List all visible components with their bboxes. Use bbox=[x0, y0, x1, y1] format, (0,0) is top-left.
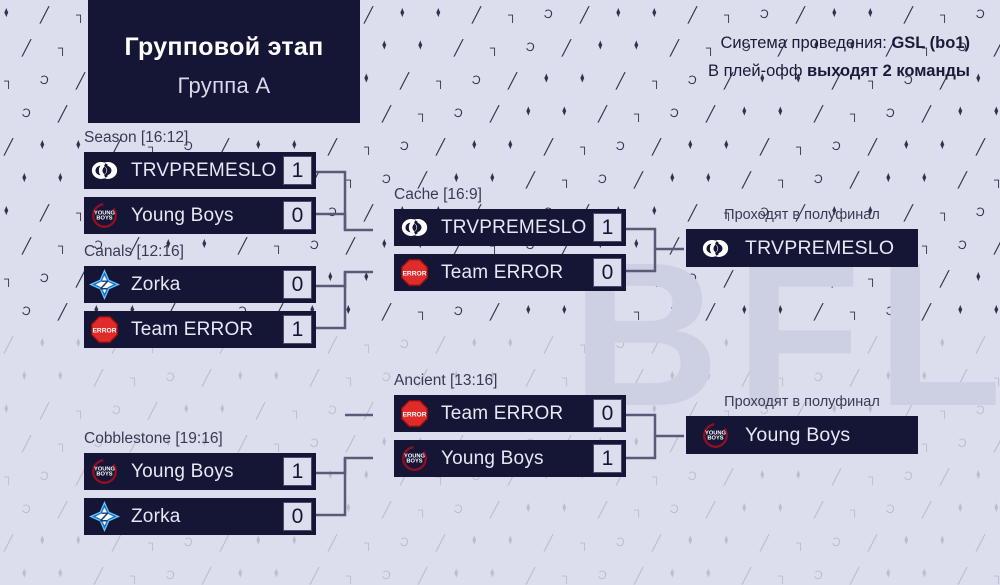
team-row[interactable]: YOUNG BOYS Young Boys1 bbox=[84, 453, 316, 490]
team-row[interactable]: YOUNG BOYS Young Boys0 bbox=[84, 197, 316, 234]
team-row[interactable]: ERROR Team ERROR0 bbox=[394, 254, 626, 291]
pattern-glyph: Ɔ bbox=[597, 568, 608, 582]
advance-caption: Проходят в полуфинал bbox=[686, 394, 918, 410]
pattern-glyph: ┐ bbox=[994, 569, 1000, 582]
qualified-bottom: Проходят в полуфинал YOUNG BOYS Young Bo… bbox=[686, 394, 918, 454]
team-name: TRVPREMESLO bbox=[745, 237, 894, 260]
team-score: 1 bbox=[283, 315, 312, 344]
svg-text:BOYS: BOYS bbox=[707, 435, 723, 441]
pattern-glyph: ♦ bbox=[58, 566, 63, 581]
pattern-glyph: ♦ bbox=[274, 566, 279, 581]
match-cache: Cache [16:9] TRVPREMESLO1 ERROR Team ERR… bbox=[394, 186, 626, 291]
match-ancient: Ancient [13:16] ERROR Team ERROR0 YOUNG … bbox=[394, 372, 626, 477]
team-score: 0 bbox=[283, 502, 312, 531]
team-name: Team ERROR bbox=[131, 319, 253, 341]
pattern-glyph: ♦ bbox=[706, 566, 711, 581]
team-row[interactable]: ERROR Team ERROR1 bbox=[84, 311, 316, 348]
title-block: Групповой этап Группа А bbox=[88, 0, 360, 123]
team-score: 1 bbox=[593, 213, 622, 242]
team-error-icon: ERROR bbox=[89, 314, 120, 345]
format-system-value: GSL (bo1) bbox=[891, 34, 970, 52]
playoff-slots-value: выходят 2 команды bbox=[807, 62, 970, 80]
team-row[interactable]: TRVPREMESLO1 bbox=[84, 152, 316, 189]
team-name: Team ERROR bbox=[441, 262, 563, 284]
pattern-glyph: ♦ bbox=[238, 566, 243, 581]
pattern-glyph: ╱ bbox=[94, 569, 103, 584]
pattern-glyph: Ɔ bbox=[165, 568, 176, 582]
pattern-glyph: ♦ bbox=[670, 566, 675, 581]
pattern-glyph: ╱ bbox=[526, 569, 535, 584]
pattern-glyph: ┐ bbox=[346, 569, 355, 582]
team-name: Young Boys bbox=[745, 424, 850, 447]
pattern-glyph: ╱ bbox=[418, 569, 427, 584]
team-error-icon: ERROR bbox=[399, 398, 430, 429]
team-name: TRVPREMESLO bbox=[131, 160, 276, 182]
qualified-team-row[interactable]: YOUNG BOYS Young Boys bbox=[686, 416, 918, 454]
team-name: Young Boys bbox=[131, 461, 234, 483]
advance-caption: Проходят в полуфинал bbox=[686, 207, 918, 223]
pattern-glyph: ╱ bbox=[742, 569, 751, 584]
young-boys-icon: YOUNG BOYS bbox=[89, 200, 120, 231]
team-name: Zorka bbox=[131, 274, 181, 296]
match-canals: Canals [12:16] Z Zorka0 ERROR Team ERROR… bbox=[84, 243, 316, 348]
format-system-prefix: Система проведения: bbox=[721, 34, 892, 52]
team-row[interactable]: TRVPREMESLO1 bbox=[394, 209, 626, 246]
team-name: Young Boys bbox=[441, 448, 544, 470]
young-boys-icon: YOUNG BOYS bbox=[89, 456, 120, 487]
qualified-top: Проходят в полуфинал TRVPREMESLO bbox=[686, 207, 918, 267]
zorka-star-icon: Z bbox=[89, 501, 120, 532]
team-name: Zorka bbox=[131, 506, 181, 528]
map-label: Ancient [13:16] bbox=[394, 372, 626, 390]
team-score: 0 bbox=[593, 258, 622, 287]
zorka-star-icon: Z bbox=[89, 269, 120, 300]
pattern-glyph: Ɔ bbox=[813, 568, 824, 582]
team-name: Team ERROR bbox=[441, 403, 563, 425]
team-row[interactable]: ERROR Team ERROR0 bbox=[394, 395, 626, 432]
svg-text:BOYS: BOYS bbox=[96, 216, 112, 222]
svg-text:BOYS: BOYS bbox=[406, 459, 422, 465]
match-season: Season [16:12] TRVPREMESLO1 YOUNG BOYS Y… bbox=[84, 129, 316, 234]
format-info: Система проведения: GSL (bo1) В плей-офф… bbox=[708, 34, 970, 90]
team-score: 1 bbox=[283, 156, 312, 185]
team-row[interactable]: YOUNG BOYS Young Boys1 bbox=[394, 440, 626, 477]
map-label: Season [16:12] bbox=[84, 129, 316, 147]
map-label: Canals [12:16] bbox=[84, 243, 316, 261]
team-score: 1 bbox=[283, 457, 312, 486]
pattern-glyph: ╱ bbox=[634, 569, 643, 584]
map-label: Cache [16:9] bbox=[394, 186, 626, 204]
pattern-glyph: ♦ bbox=[922, 566, 927, 581]
format-system-line: Система проведения: GSL (bo1) bbox=[708, 34, 970, 53]
group-subtitle: Группа А bbox=[178, 73, 271, 99]
pattern-glyph: ┐ bbox=[778, 569, 787, 582]
chanel-cc-icon bbox=[700, 233, 731, 264]
pattern-glyph: Ɔ bbox=[381, 568, 392, 582]
team-score: 0 bbox=[593, 399, 622, 428]
svg-text:BOYS: BOYS bbox=[96, 472, 112, 478]
chanel-cc-icon bbox=[399, 212, 430, 243]
team-score: 0 bbox=[283, 201, 312, 230]
chanel-cc-icon bbox=[89, 155, 120, 186]
team-name: Young Boys bbox=[131, 205, 234, 227]
page-title: Групповой этап bbox=[124, 33, 323, 62]
team-score: 0 bbox=[283, 270, 312, 299]
pattern-glyph: ♦ bbox=[490, 566, 495, 581]
pattern-glyph: ♦ bbox=[886, 566, 891, 581]
pattern-glyph: ♦ bbox=[22, 566, 27, 581]
pattern-glyph: ┐ bbox=[562, 569, 571, 582]
pattern-glyph: ╱ bbox=[850, 569, 859, 584]
svg-text:ERROR: ERROR bbox=[402, 411, 426, 418]
svg-text:ERROR: ERROR bbox=[402, 270, 426, 277]
playoff-slots-prefix: В плей-офф bbox=[708, 62, 807, 80]
young-boys-icon: YOUNG BOYS bbox=[399, 443, 430, 474]
pattern-glyph: ┐ bbox=[130, 569, 139, 582]
pattern-glyph: ♦ bbox=[454, 566, 459, 581]
team-error-icon: ERROR bbox=[399, 257, 430, 288]
match-cobblestone: Cobblestone [19:16] YOUNG BOYS Young Boy… bbox=[84, 430, 316, 535]
playoff-slots-line: В плей-офф выходят 2 команды bbox=[708, 62, 970, 81]
map-label: Cobblestone [19:16] bbox=[84, 430, 316, 448]
team-score: 1 bbox=[593, 444, 622, 473]
pattern-glyph: ╱ bbox=[310, 569, 319, 584]
team-name: TRVPREMESLO bbox=[441, 217, 586, 239]
team-row[interactable]: Z Zorka0 bbox=[84, 266, 316, 303]
team-row[interactable]: Z Zorka0 bbox=[84, 498, 316, 535]
svg-text:ERROR: ERROR bbox=[92, 327, 116, 334]
qualified-team-row[interactable]: TRVPREMESLO bbox=[686, 229, 918, 267]
young-boys-icon: YOUNG BOYS bbox=[700, 420, 731, 451]
pattern-glyph: ╱ bbox=[202, 569, 211, 584]
pattern-glyph: ╱ bbox=[958, 569, 967, 584]
